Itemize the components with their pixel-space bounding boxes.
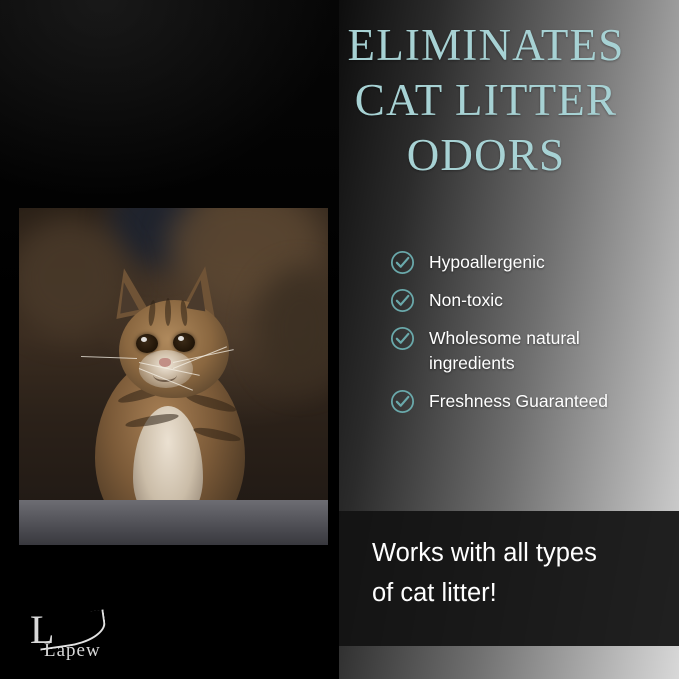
- product-photo: [19, 208, 328, 545]
- list-item: Non-toxic: [390, 288, 670, 313]
- benefit-label: Hypoallergenic: [429, 250, 545, 275]
- kitten-eye-right: [173, 333, 195, 352]
- list-item: Freshness Guaranteed: [390, 389, 670, 414]
- footer-line-1: Works with all types: [372, 533, 662, 573]
- benefit-label: Non-toxic: [429, 288, 503, 313]
- kitten-eye-left: [136, 334, 158, 353]
- headline: ELIMINATES CAT LITTER ODORS: [300, 18, 672, 183]
- list-item: Hypoallergenic: [390, 250, 670, 275]
- advertisement-image: ELIMINATES CAT LITTER ODORS: [0, 0, 679, 679]
- footer-line-2: of cat litter!: [372, 573, 662, 613]
- benefits-list: Hypoallergenic Non-toxic Wholesome natur…: [390, 250, 670, 427]
- list-item: Wholesome natural ingredients: [390, 326, 670, 376]
- kitten-forehead-stripe: [165, 298, 171, 326]
- litter-box-front-wall: [19, 500, 328, 545]
- check-circle-icon: [390, 326, 415, 351]
- benefit-label: Freshness Guaranteed: [429, 389, 608, 414]
- headline-line-3: ODORS: [300, 128, 672, 183]
- headline-line-1: ELIMINATES: [300, 18, 672, 73]
- footer-callout-text: Works with all types of cat litter!: [372, 533, 662, 613]
- check-circle-icon: [390, 389, 415, 414]
- kitten: [81, 238, 271, 538]
- brand-logo: L Lapew: [30, 612, 150, 662]
- left-panel-glow: [0, 0, 340, 200]
- check-circle-icon: [390, 288, 415, 313]
- headline-line-2: CAT LITTER: [300, 73, 672, 128]
- benefit-label: Wholesome natural ingredients: [429, 326, 659, 376]
- check-circle-icon: [390, 250, 415, 275]
- brand-wordmark: Lapew: [44, 640, 101, 662]
